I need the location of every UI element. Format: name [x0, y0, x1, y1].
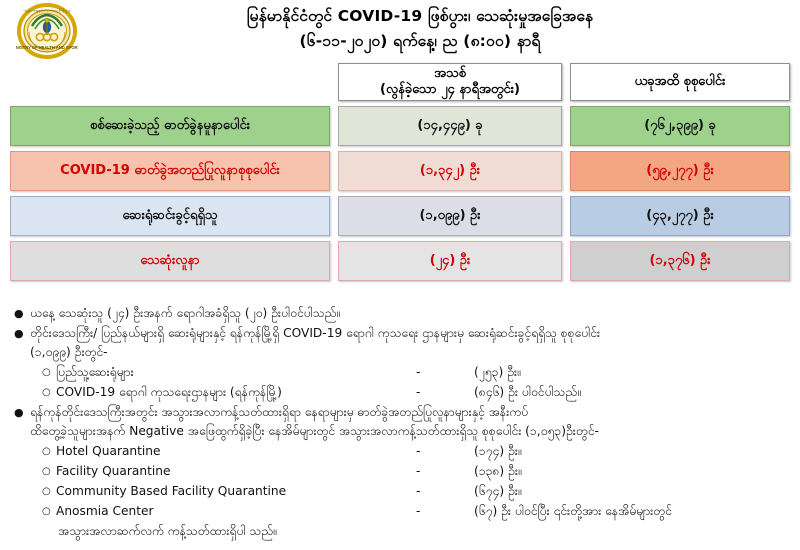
notes-section: ● ယနေ့ သေဆုံးသူ (၂၄) ဦးအနက် ရောဂါအခံရှိသ… — [14, 304, 790, 541]
sub-item-row: COVID-19 ရောဂါ ကုသရေးဌာနများ (ရန်ကုန်မြိ… — [56, 383, 790, 402]
bullet-marker-icon: ● — [14, 304, 30, 323]
sub-item-name: Anosmia Center — [56, 502, 416, 521]
row-new-confirmed: (၁,၃၄၂) ဦး — [338, 151, 562, 191]
sub-item-value: (၆၇) ဦး ပါဝင်ပြီး ၎င်းတို့အား နေအိမ်များ… — [474, 502, 790, 521]
row-total-discharged: (၄၃,၂၇၇) ဦး — [570, 196, 790, 236]
sub-item-public-hospitals: ○ ပြည်သူ့ဆေးရုံများ - (၂၅၃) ဦး။ — [14, 363, 790, 382]
circle-marker-icon: ○ — [42, 363, 56, 382]
circle-marker-icon: ○ — [42, 442, 56, 461]
header-cell-new: အသစ် (လွန်ခဲ့သော ၂၄ နာရီအတွင်း) — [338, 63, 562, 101]
sub-item-name: ပြည်သူ့ဆေးရုံများ — [56, 363, 416, 382]
svg-text:ကျန်းမာရေးနှင့်အားကစားဝန်ကြီးဌ: ကျန်းမာရေးနှင့်အားကစားဝန်ကြီးဌာန — [23, 7, 70, 14]
svg-text:MINISTRY OF HEALTH AND SPORTS: MINISTRY OF HEALTH AND SPORTS — [16, 45, 78, 50]
sub-item-anosmia-center: ○ Anosmia Center - (၆၇) ဦး ပါဝင်ပြီး ၎င်… — [14, 502, 790, 521]
sub-item-dash: - — [416, 482, 474, 501]
note-text-block: တိုင်းဒေသကြီး/ ပြည်နယ်များရှိ ဆေးရုံများ… — [30, 324, 790, 362]
row-new-tests: (၁၄,၄၄၉) ခု — [338, 106, 562, 146]
sub-item-row: ပြည်သူ့ဆေးရုံများ - (၂၅၃) ဦး။ — [56, 363, 790, 382]
bullet-marker-icon: ● — [14, 403, 30, 422]
covid-summary-table: အသစ် (လွန်ခဲ့သော ၂၄ နာရီအတွင်း) ယခုအထိ စ… — [10, 63, 790, 286]
header-new-line-2: (လွန်ခဲ့သော ၂၄ နာရီအတွင်း) — [380, 82, 520, 98]
sub-item-dash: - — [416, 502, 474, 521]
row-label-deaths: သေဆုံးလူနာ — [10, 241, 330, 281]
row-label-tests: စစ်ဆေးခဲ့သည့် ဓာတ်ခွဲနမူနာပေါင်း — [10, 106, 330, 146]
page-header: MINISTRY OF HEALTH AND SPORTS ကျန်းမာရေး… — [0, 0, 800, 62]
note-line-2: (၁,၀၉၉) ဦးတွင်- — [30, 343, 790, 362]
header-new-line-1: အသစ် — [434, 66, 466, 82]
row-new-discharged: (၁,၀၉၉) ဦး — [338, 196, 562, 236]
sub-item-name: COVID-19 ရောဂါ ကုသရေးဌာနများ (ရန်ကုန်မြိ… — [56, 383, 416, 402]
sub-item-dash: - — [416, 442, 474, 461]
row-total-confirmed: (၅၉,၂၇၇) ဦး — [570, 151, 790, 191]
note-bullet-yangon-quarantine: ● ရန်ကုန်တိုင်းဒေသကြီးအတွင်း အသွားအလာကန့… — [14, 403, 790, 441]
note-line-1: တိုင်းဒေသကြီး/ ပြည်နယ်များရှိ ဆေးရုံများ… — [30, 324, 790, 343]
row-total-deaths: (၁,၃၇၆) ဦး — [570, 241, 790, 281]
row-new-deaths: (၂၄) ဦး — [338, 241, 562, 281]
note-text-block: ရန်ကုန်တိုင်းဒေသကြီးအတွင်း အသွားအလာကန့်သ… — [30, 403, 790, 441]
table-row: ဆေးရုံဆင်းခွင့်ရရှိသူ (၁,၀၉၉) ဦး (၄၃,၂၇၇… — [10, 196, 790, 236]
sub-item-name: Hotel Quarantine — [56, 442, 416, 461]
note-bullet-deaths-comorbidity: ● ယနေ့ သေဆုံးသူ (၂၄) ဦးအနက် ရောဂါအခံရှိသ… — [14, 304, 790, 323]
circle-marker-icon: ○ — [42, 383, 56, 402]
sub-item-dash: - — [416, 383, 474, 402]
sub-item-facility-quarantine: ○ Facility Quarantine - (၁၃၈) ဦး။ — [14, 462, 790, 481]
header-total-line-1: ယခုအထိ စုစုပေါင်း — [635, 74, 726, 90]
table-row: COVID-19 ဓာတ်ခွဲအတည်ပြုလူနာစုစုပေါင်း (၁… — [10, 151, 790, 191]
title-line-1: မြန်မာနိုင်ငံတွင် COVID-19 ဖြစ်ပွား၊ သေဆ… — [40, 4, 800, 29]
sub-item-row: Community Based Facility Quarantine - (၆… — [56, 482, 790, 501]
row-total-tests: (၇၆၂,၃၉၉) ခု — [570, 106, 790, 146]
sub-item-value: (၆၇၄) ဦး။ — [474, 482, 790, 501]
sub-item-value: (၁၃၈) ဦး။ — [474, 462, 790, 481]
sub-item-value: (၈၄၆) ဦး ပါဝင်ပါသည်။ — [474, 383, 790, 402]
sub-item-dash: - — [416, 363, 474, 382]
row-label-confirmed: COVID-19 ဓာတ်ခွဲအတည်ပြုလူနာစုစုပေါင်း — [10, 151, 330, 191]
sub-item-dash: - — [416, 462, 474, 481]
sub-item-row: Hotel Quarantine - (၁၇၄) ဦး။ — [56, 442, 790, 461]
sub-item-covid-treatment-centres: ○ COVID-19 ရောဂါ ကုသရေးဌာနများ (ရန်ကုန်မ… — [14, 383, 790, 402]
table-row: စစ်ဆေးခဲ့သည့် ဓာတ်ခွဲနမူနာပေါင်း (၁၄,၄၄၉… — [10, 106, 790, 146]
header-spacer-cell — [10, 63, 330, 101]
sub-item-hotel-quarantine: ○ Hotel Quarantine - (၁၇၄) ဦး။ — [14, 442, 790, 461]
note-line-1-text: တိုင်းဒေသကြီး/ ပြည်နယ်များရှိ ဆေးရုံများ… — [30, 324, 600, 343]
circle-marker-icon: ○ — [42, 462, 56, 481]
sub-item-name: Facility Quarantine — [56, 462, 416, 481]
sub-item-row: Facility Quarantine - (၁၃၈) ဦး။ — [56, 462, 790, 481]
table-header-row: အသစ် (လွန်ခဲ့သော ၂၄ နာရီအတွင်း) ယခုအထိ စ… — [10, 63, 790, 101]
sub-item-value: (၁၇၄) ဦး။ — [474, 442, 790, 461]
header-cell-total: ယခုအထိ စုစုပေါင်း — [570, 63, 790, 101]
circle-marker-icon: ○ — [42, 502, 56, 521]
note-line-1: ရန်ကုန်တိုင်းဒေသကြီးအတွင်း အသွားအလာကန့်သ… — [30, 403, 790, 422]
title-line-2: (၆-၁၁-၂၀၂၀) ရက်နေ့၊ ည (၈:၀၀) နာရီ — [40, 29, 800, 54]
circle-marker-icon: ○ — [42, 482, 56, 501]
note-final-line: အသွားအလာဆက်လက် ကန့်သတ်ထားရှိပါ သည်။ — [14, 522, 790, 541]
bullet-marker-icon: ● — [14, 324, 30, 343]
page-title: မြန်မာနိုင်ငံတွင် COVID-19 ဖြစ်ပွား၊ သေဆ… — [0, 0, 800, 54]
row-label-discharged: ဆေးရုံဆင်းခွင့်ရရှိသူ — [10, 196, 330, 236]
note-line-2: ထိတွေ့ခဲ့သူများအနက် Negative အဖြေထွက်ရှိ… — [30, 422, 790, 441]
sub-item-community-based-facility-quarantine: ○ Community Based Facility Quarantine - … — [14, 482, 790, 501]
sub-item-name: Community Based Facility Quarantine — [56, 482, 416, 501]
note-bullet-discharged-breakdown: ● တိုင်းဒေသကြီး/ ပြည်နယ်များရှိ ဆေးရုံမျ… — [14, 324, 790, 362]
sub-item-row: Anosmia Center - (၆၇) ဦး ပါဝင်ပြီး ၎င်းတ… — [56, 502, 790, 521]
table-row: သေဆုံးလူနာ (၂၄) ဦး (၁,၃၇၆) ဦး — [10, 241, 790, 281]
ministry-of-health-and-sports-seal-icon: MINISTRY OF HEALTH AND SPORTS ကျန်းမာရေး… — [16, 2, 78, 60]
note-text: ယနေ့ သေဆုံးသူ (၂၄) ဦးအနက် ရောဂါအခံရှိသူ … — [30, 304, 790, 323]
sub-item-value: (၂၅၃) ဦး။ — [474, 363, 790, 382]
